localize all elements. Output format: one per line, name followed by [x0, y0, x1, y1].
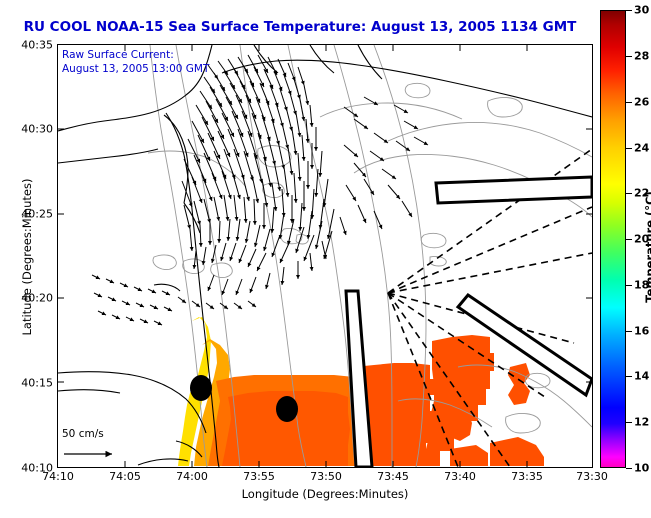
xtick-7: 73:35 [511, 470, 543, 483]
map-graphics [58, 45, 592, 467]
surface-current-vectors [92, 55, 428, 325]
vector-scale-arrow-icon [62, 442, 158, 478]
xtick-3: 73:55 [243, 470, 275, 483]
cbtick-30: 30 [634, 4, 649, 17]
xtick-6: 73:40 [444, 470, 476, 483]
vector-scale-legend: 50 cm/s [62, 428, 158, 464]
annotation-line-1: Raw Surface Current: [62, 48, 209, 62]
ytick-0: 40:10 [21, 462, 53, 475]
ytick-1: 40:15 [21, 377, 53, 390]
annotation-line-2: August 13, 2005 13:00 GMT [62, 62, 209, 76]
xtick-4: 73:50 [310, 470, 342, 483]
station-marker-1[interactable] [190, 375, 212, 401]
ytick-4: 40:30 [21, 123, 53, 136]
figure-title: RU COOL NOAA-15 Sea Surface Temperature:… [0, 19, 600, 35]
ytick-5: 40:35 [21, 39, 53, 52]
station-marker-2[interactable] [276, 396, 298, 422]
cbtick-28: 28 [634, 50, 649, 63]
vector-scale-label: 50 cm/s [62, 428, 104, 440]
xtick-8: 73:30 [576, 470, 608, 483]
figure-canvas: RU COOL NOAA-15 Sea Surface Temperature:… [0, 0, 651, 518]
current-annotation: Raw Surface Current: August 13, 2005 13:… [62, 48, 209, 76]
y-axis-title: Latitude (Degrees:Minutes) [20, 137, 34, 377]
temperature-colorbar[interactable] [600, 10, 626, 468]
cbtick-24: 24 [634, 142, 649, 155]
cbtick-10: 10 [634, 462, 649, 475]
cbtick-14: 14 [634, 370, 649, 383]
cbtick-12: 12 [634, 416, 649, 429]
xtick-5: 73:45 [377, 470, 409, 483]
x-axis-title: Longitude (Degrees:Minutes) [57, 487, 593, 501]
xtick-2: 74:00 [176, 470, 208, 483]
cbtick-26: 26 [634, 96, 649, 109]
map-plot-area[interactable] [57, 44, 593, 468]
colorbar-title: Temperature (°C) [643, 157, 651, 337]
